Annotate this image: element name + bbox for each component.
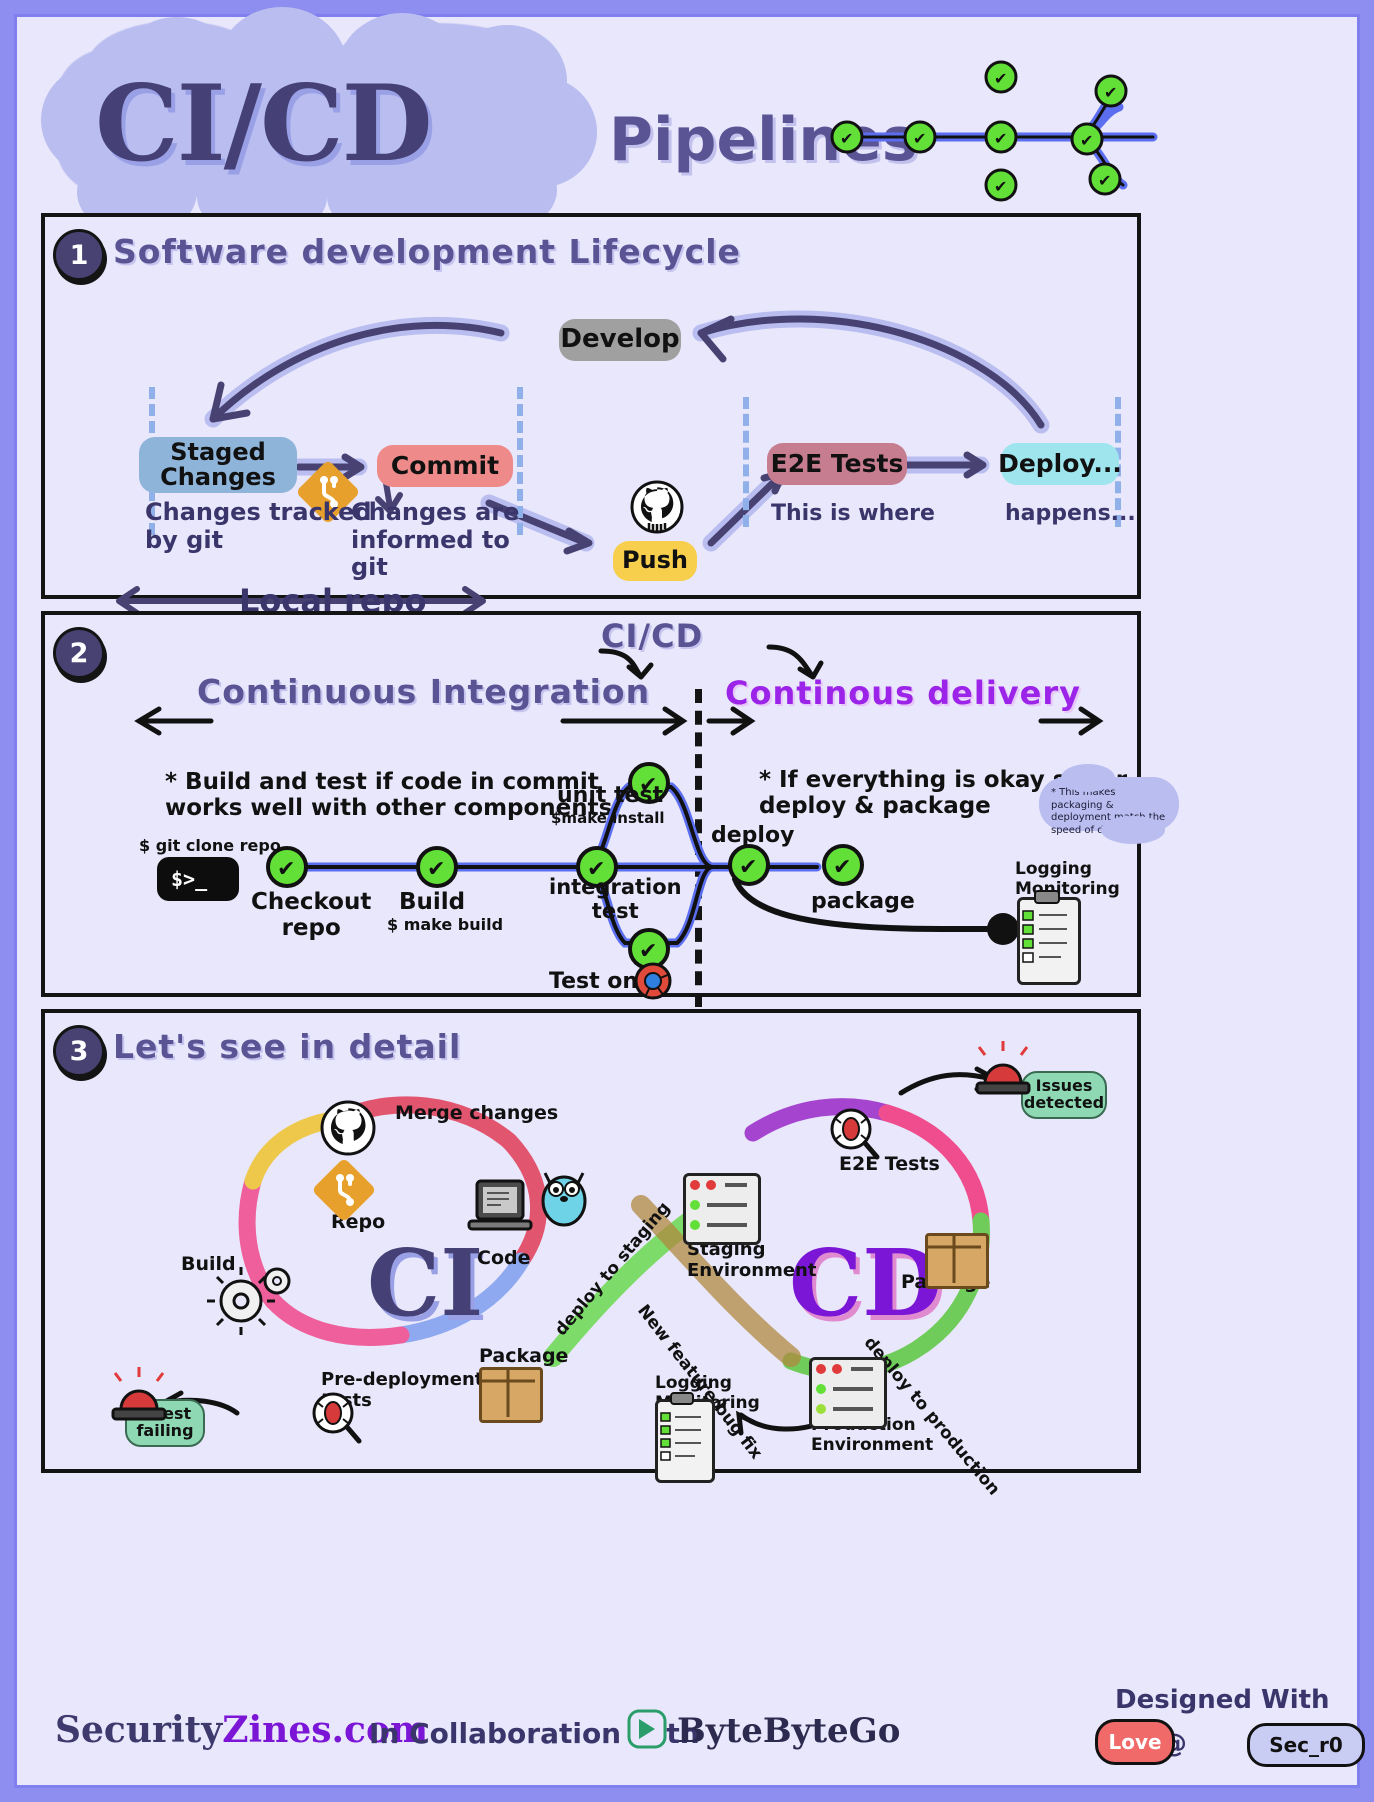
staged-changes-note: Changes tracked by git <box>145 499 372 554</box>
step-build: Build <box>399 889 465 915</box>
e2e-note: This is where <box>771 501 935 526</box>
step-unit-test-cmd: $make install <box>551 809 664 827</box>
label-staging-environment: Staging Environment <box>687 1239 816 1281</box>
gopher-icon <box>537 1165 591 1227</box>
node-staged-changes[interactable]: Staged Changes <box>139 437 297 493</box>
git-branch-graph-icon: ✔✔✔ ✔✔ ✔✔✔ <box>823 45 1143 205</box>
svg-text:✔: ✔ <box>277 857 295 882</box>
step-test-on: Test on <box>549 969 638 994</box>
production-server-glyph <box>807 1355 883 1425</box>
logging-monitoring-label: Logging Monitoring <box>1015 859 1120 899</box>
git-fork-glyph-panel3 <box>326 1170 366 1210</box>
step-integration-test: integration test <box>549 875 682 923</box>
clipboard-glyph-panel3 <box>653 1397 713 1481</box>
svg-text:✔: ✔ <box>1104 83 1117 102</box>
panel-3-badge: 3 <box>53 1025 105 1077</box>
deploy-note: happens... <box>1005 501 1136 526</box>
node-push[interactable]: Push <box>613 541 697 581</box>
step-build-cmd: $ make build <box>387 915 503 934</box>
gears-build-icon <box>205 1263 297 1325</box>
panel-2-badge: 2 <box>53 627 105 679</box>
issues-detected-badge: Issues detected <box>1021 1071 1107 1119</box>
package-box-lines-ci <box>477 1365 539 1419</box>
svg-text:✔: ✔ <box>833 855 851 880</box>
bug-magnifier-icon-predeploy <box>309 1389 361 1445</box>
svg-text:✔: ✔ <box>739 855 757 880</box>
svg-text:✔: ✔ <box>994 129 1007 148</box>
node-commit[interactable]: Commit <box>377 445 513 487</box>
staging-server-glyph <box>681 1171 757 1241</box>
browser-test-icon <box>633 961 673 1001</box>
brand-security: Security <box>55 1709 222 1751</box>
ci-big-label: CI <box>367 1229 483 1337</box>
svg-text:✔: ✔ <box>1098 171 1111 190</box>
github-icon-panel3 <box>319 1099 377 1157</box>
step-package: package <box>811 889 915 914</box>
partner-name: ByteByteGo <box>677 1711 900 1751</box>
svg-text:✔: ✔ <box>1080 131 1093 150</box>
love-badge: Love <box>1095 1719 1175 1765</box>
commit-note: Changes are informed to git <box>351 499 519 582</box>
designed-with-text: Designed With <box>1115 1685 1330 1715</box>
panel-1-badge: 1 <box>53 229 105 281</box>
node-deploy[interactable]: Deploy... <box>1001 443 1119 485</box>
terminal-window[interactable]: $>_ <box>157 857 239 901</box>
alarm-icon-issues <box>973 1049 1033 1105</box>
svg-text:✔: ✔ <box>913 129 926 148</box>
label-merge-changes: Merge changes <box>395 1102 558 1124</box>
author-handle[interactable]: Sec_r0 <box>1247 1723 1365 1767</box>
remote-boundary-left <box>743 397 749 527</box>
svg-text:✔: ✔ <box>994 69 1007 88</box>
bug-magnifier-icon-e2e <box>827 1105 879 1161</box>
github-octocat-icon <box>629 479 685 535</box>
label-ci-package: Package <box>479 1345 568 1367</box>
page-title: CI/CD <box>95 61 431 185</box>
step-checkout-repo: Checkout repo <box>251 889 371 941</box>
bytebytego-logo-icon <box>625 1707 669 1751</box>
svg-text:✔: ✔ <box>994 177 1007 196</box>
label-code: Code <box>477 1247 530 1269</box>
poster-page: CI/CD Pipelines ✔✔✔ ✔✔ ✔✔✔ 1 Software de… <box>14 14 1360 1788</box>
laptop-code-icon <box>467 1177 537 1243</box>
svg-text:✔: ✔ <box>840 129 853 148</box>
node-e2e-tests[interactable]: E2E Tests <box>767 443 907 485</box>
alarm-icon-failing <box>109 1375 169 1431</box>
clipboard-glyph <box>1015 895 1079 983</box>
step-unit-test: unit test <box>557 783 663 808</box>
svg-text:✔: ✔ <box>427 857 445 882</box>
cd-speed-note: * This makes packaging & deployment matc… <box>1039 777 1179 831</box>
package-box-lines-cd <box>923 1231 985 1285</box>
node-develop[interactable]: Develop <box>559 319 681 361</box>
step-deploy: deploy <box>711 823 794 848</box>
